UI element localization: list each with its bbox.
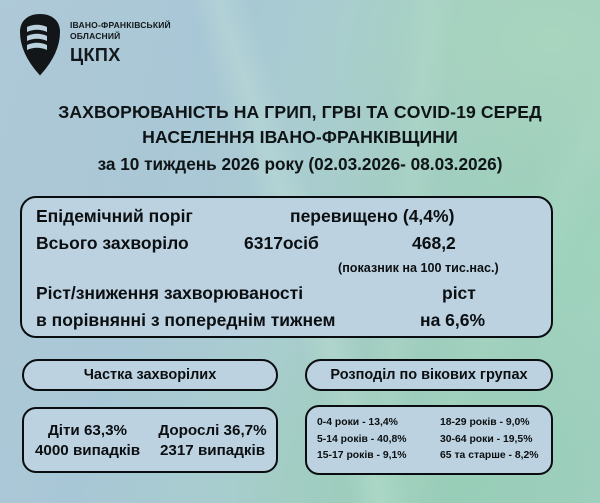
title-line-3-period: за 10 тиждень 2026 року (02.03.2026- 08.… bbox=[0, 152, 600, 178]
age-group-item: 18-29 років - 9,0% bbox=[440, 415, 543, 432]
age-groups-column-right: 18-29 років - 9,0% 30-64 роки - 19,5% 65… bbox=[430, 415, 543, 466]
title-line-1: ЗАХВОРЮВАНІСТЬ НА ГРИП, ГРВІ ТА COVID-19… bbox=[0, 100, 600, 125]
epidemic-threshold-label: Епідемічний поріг bbox=[36, 206, 193, 227]
children-cases-value: 4000 випадків bbox=[35, 442, 140, 459]
incidence-rate-value: 468,2 bbox=[412, 233, 456, 254]
shield-heart-logo-icon bbox=[18, 14, 62, 76]
growth-direction-value: ріст bbox=[442, 283, 476, 304]
total-cases-value: 6317осіб bbox=[244, 233, 319, 254]
epidemic-threshold-value: перевищено (4,4%) bbox=[290, 206, 454, 227]
age-group-item: 30-64 роки - 19,5% bbox=[440, 432, 543, 449]
children-share-label: Діти 63,3% bbox=[48, 422, 127, 439]
share-of-cases-panel: Діти 63,3% Дорослі 36,7% 4000 випадків 2… bbox=[22, 407, 278, 473]
title-line-2: НАСЕЛЕННЯ ІВАНО-ФРАНКІВЩИНИ bbox=[0, 125, 600, 150]
adults-cases-value: 2317 випадків bbox=[160, 442, 265, 459]
org-acronym: ЦКПХ bbox=[70, 44, 171, 67]
week-comparison-label: в порівнянні з попереднім тижнем bbox=[36, 310, 335, 331]
total-cases-label: Всього захворіло bbox=[36, 233, 189, 254]
organization-branding: ІВАНО-ФРАНКІВСЬКИЙ ОБЛАСНИЙ ЦКПХ bbox=[18, 14, 171, 76]
organization-name: ІВАНО-ФРАНКІВСЬКИЙ ОБЛАСНИЙ ЦКПХ bbox=[70, 14, 171, 66]
adults-share-label: Дорослі 36,7% bbox=[158, 422, 266, 439]
age-group-item: 15-17 років - 9,1% bbox=[317, 448, 430, 465]
share-grid: Діти 63,3% Дорослі 36,7% 4000 випадків 2… bbox=[24, 409, 276, 471]
age-group-item: 0-4 роки - 13,4% bbox=[317, 415, 430, 432]
page-title: ЗАХВОРЮВАНІСТЬ НА ГРИП, ГРВІ ТА COVID-19… bbox=[0, 100, 600, 178]
growth-decline-label: Ріст/зниження захворюваності bbox=[36, 283, 303, 304]
incidence-rate-note: (показник на 100 тис.нас.) bbox=[338, 261, 499, 275]
section-header-age-groups: Розподіл по вікових групах bbox=[305, 359, 553, 391]
age-groups-grid: 0-4 роки - 13,4% 5-14 років - 40,8% 15-1… bbox=[307, 407, 551, 473]
age-group-item: 65 та старше - 8,2% bbox=[440, 448, 543, 465]
org-line-1: ІВАНО-ФРАНКІВСЬКИЙ bbox=[70, 20, 171, 31]
infographic-page: ІВАНО-ФРАНКІВСЬКИЙ ОБЛАСНИЙ ЦКПХ ЗАХВОРЮ… bbox=[0, 0, 600, 503]
age-groups-panel: 0-4 роки - 13,4% 5-14 років - 40,8% 15-1… bbox=[305, 405, 553, 475]
section-header-share: Частка захворілих bbox=[22, 359, 278, 391]
week-comparison-value: на 6,6% bbox=[420, 310, 485, 331]
org-line-2: ОБЛАСНИЙ bbox=[70, 31, 171, 42]
age-groups-column-left: 0-4 роки - 13,4% 5-14 років - 40,8% 15-1… bbox=[317, 415, 430, 466]
age-group-item: 5-14 років - 40,8% bbox=[317, 432, 430, 449]
statistics-panel: Епідемічний поріг перевищено (4,4%) Всьо… bbox=[20, 196, 553, 338]
